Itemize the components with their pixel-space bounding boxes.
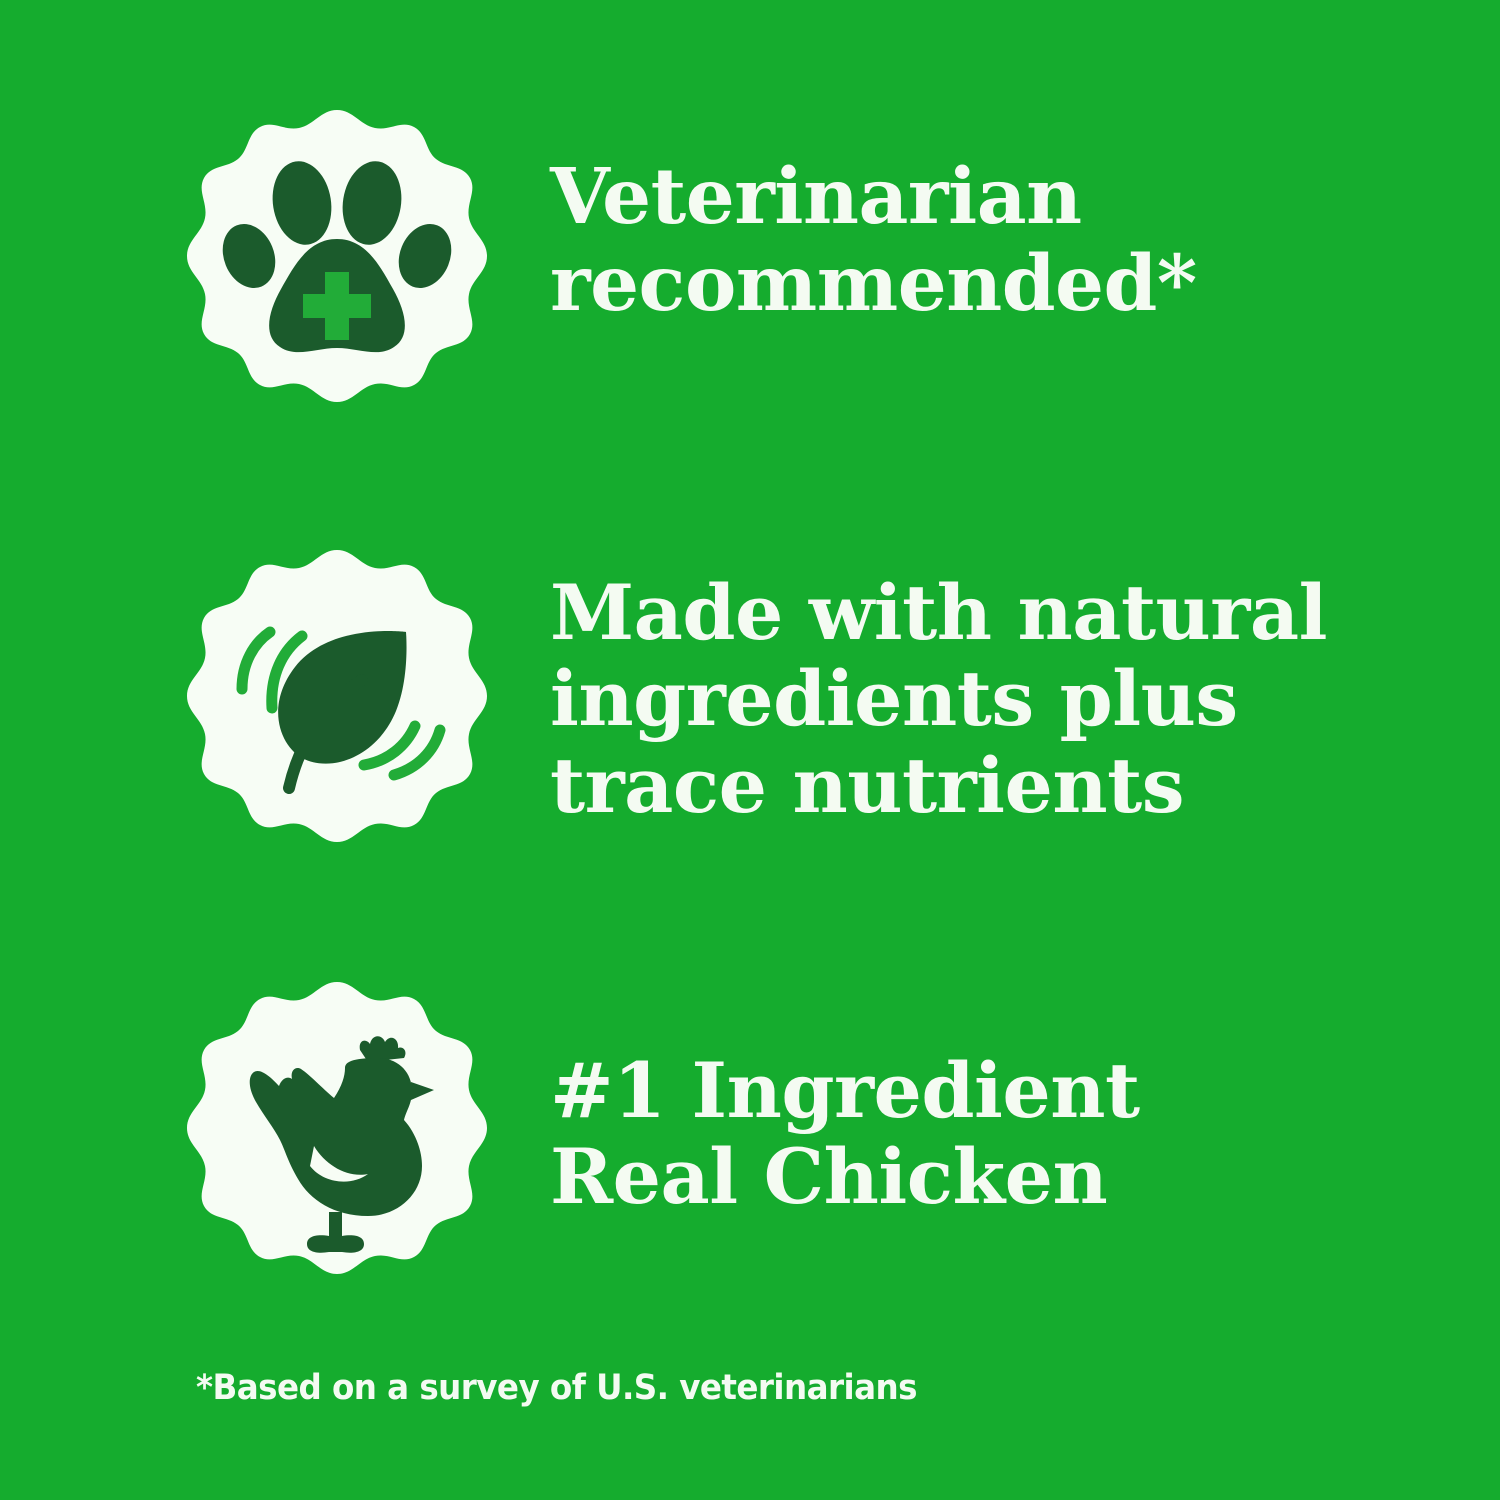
feature-line: Real Chicken	[550, 1134, 1350, 1220]
promo-panel: Veterinarian recommended* Made with natu…	[0, 0, 1500, 1500]
feature-line: ingredients plus	[550, 656, 1350, 742]
footnote-disclaimer: *Based on a survey of U.S. veterinarians	[196, 1368, 917, 1408]
feature-line: recommended*	[550, 241, 1350, 328]
feature-label-natural-ingredients: Made with natural ingredients plus trace…	[550, 548, 1350, 829]
feature-line: #1 Ingredient	[550, 1048, 1350, 1134]
feature-label-real-chicken: #1 Ingredient Real Chicken	[550, 980, 1350, 1221]
feature-line: trace nutrients	[550, 743, 1350, 829]
feature-line: Made with natural	[550, 570, 1350, 656]
feature-row-real-chicken: #1 Ingredient Real Chicken	[0, 980, 1500, 1290]
feature-row-natural-ingredients: Made with natural ingredients plus trace…	[0, 548, 1500, 858]
leaf-with-motion-lines-badge-icon	[182, 548, 492, 858]
feature-label-veterinarian: Veterinarian recommended*	[550, 108, 1350, 329]
paw-with-medical-cross-badge-icon	[182, 108, 492, 418]
chicken-badge-icon	[182, 980, 492, 1290]
feature-line: Veterinarian	[550, 154, 1350, 241]
feature-row-veterinarian: Veterinarian recommended*	[0, 108, 1500, 418]
